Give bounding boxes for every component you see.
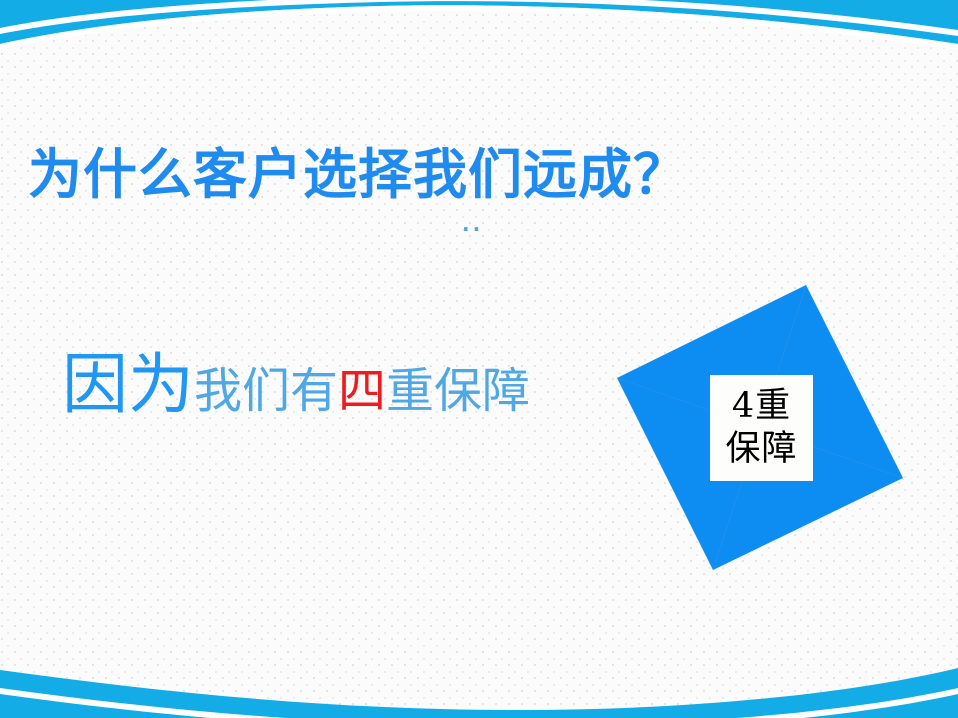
title-dots: ..: [462, 214, 483, 234]
top-wave-band: [0, 0, 958, 64]
body-after-highlight-text: 重保障: [386, 363, 530, 419]
diamond-badge: 4重 保障: [600, 270, 920, 590]
slide-canvas: 为什么客户选择我们远成？ .. 因为我们有四重保障 4重 保障: [0, 0, 958, 718]
body-before-highlight-text: 我们有: [194, 363, 338, 419]
bottom-wave-svg: [0, 648, 958, 718]
badge-line-1: 4重: [732, 389, 791, 424]
body-statement: 因为我们有四重保障: [62, 352, 530, 418]
badge-line-2: 保障: [725, 432, 797, 467]
bottom-wave-band: [0, 648, 958, 718]
page-title: 为什么客户选择我们远成？: [28, 144, 688, 206]
body-highlight-text: 四: [338, 363, 386, 419]
top-wave-svg: [0, 0, 958, 64]
badge-text-box: 4重 保障: [710, 375, 813, 481]
body-lead-text: 因为: [62, 346, 194, 423]
